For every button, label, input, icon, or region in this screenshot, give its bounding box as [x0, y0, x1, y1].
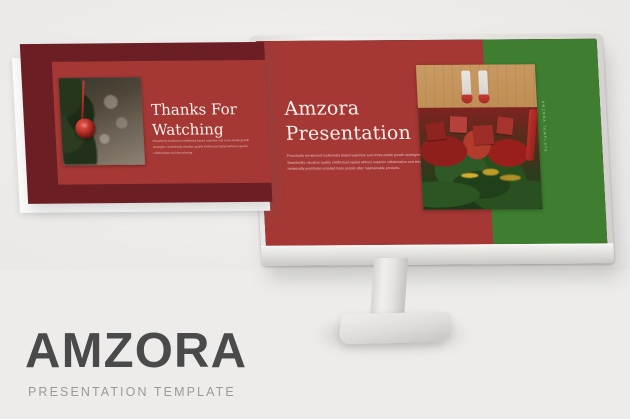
brand-title: AMZORA	[25, 327, 425, 376]
christmas-ornament-photo	[59, 77, 146, 166]
floating-slide-body-text: Proactively envisioned multimedia based …	[153, 137, 258, 156]
screen-slide-amzora-presentation: Amzora Presentation Proactively envision…	[255, 39, 607, 248]
leg-left	[461, 70, 472, 98]
brand-block: AMZORA PRESENTATION TEMPLATE	[25, 327, 425, 399]
gift-box	[497, 117, 514, 136]
monitor-bezel: Amzora Presentation Proactively envision…	[255, 39, 607, 248]
leg-right	[478, 70, 489, 98]
sock-right	[478, 95, 489, 104]
screen-slide-body-text: Proactively envisioned multimedia based …	[287, 152, 438, 173]
floating-slide-title: Thanks For Watching	[151, 100, 261, 141]
gold-tinsel	[444, 160, 529, 192]
floating-slide-title-line-1: Thanks For	[151, 100, 260, 121]
gift-box	[473, 125, 495, 145]
monitor-stand-neck	[370, 258, 408, 320]
desktop-monitor: Amzora Presentation Proactively envision…	[250, 34, 614, 266]
floating-slide-thanks-for-watching: Thanks For Watching Proactively envision…	[20, 42, 273, 204]
christmas-gifts-feet-photo	[415, 64, 542, 210]
red-ornament-ball	[75, 119, 96, 139]
gift-box	[449, 116, 466, 133]
brand-subtitle: PRESENTATION TEMPLATE	[28, 385, 425, 399]
slide-inner-panel: Thanks For Watching Proactively envision…	[51, 60, 272, 185]
monitor-chin	[261, 243, 614, 265]
gift-box	[425, 122, 447, 141]
mockup-canvas: Amzora Presentation Proactively envision…	[0, 0, 630, 419]
